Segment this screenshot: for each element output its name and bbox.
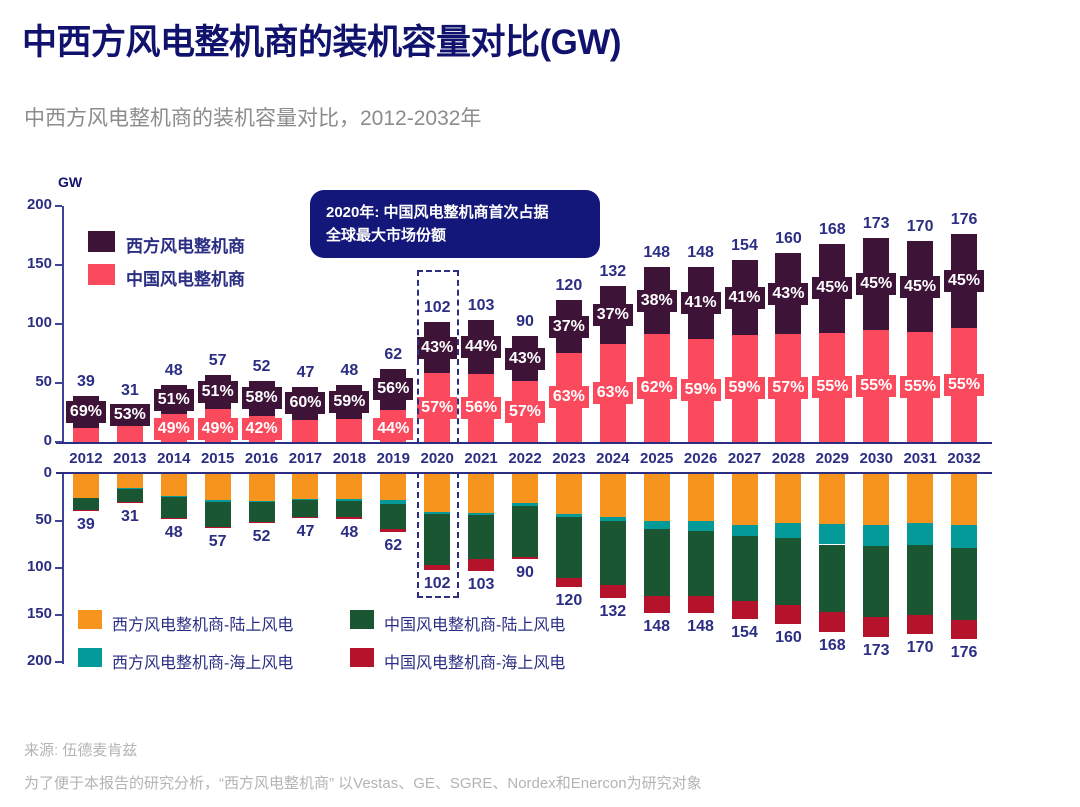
y-axis-unit-label: GW: [58, 174, 82, 190]
bar-percent-label-west: 44%: [461, 336, 501, 358]
x-axis-year-label: 2030: [852, 450, 900, 467]
bar-total-label: 90: [501, 564, 549, 582]
bar-percent-label-west: 60%: [285, 392, 325, 414]
legend-label-2: 中国风电整机商: [126, 265, 245, 290]
bar-segment-china-onshore: [161, 497, 187, 519]
legend-swatch-bottom-4: [350, 648, 374, 667]
bar-segment-west-onshore: [161, 474, 187, 496]
bar-percent-label-west: 41%: [725, 287, 765, 309]
bar-segment-china-offshore: [380, 529, 406, 533]
x-axis-year-label: 2028: [764, 450, 812, 467]
bar-segment-china-onshore: [819, 545, 845, 613]
bar-segment-china-onshore: [468, 515, 494, 558]
bar-segment-china-offshore: [688, 596, 714, 613]
bar-segment-china: [117, 425, 143, 442]
bar-segment-west-onshore: [468, 474, 494, 513]
bar-segment-west-onshore: [292, 474, 318, 499]
bottom-chart-y-tick-mark: [55, 614, 62, 616]
bar-percent-label-west: 53%: [110, 404, 150, 426]
bottom-chart-y-tick-mark: [55, 661, 62, 663]
bar-total-label: 90: [501, 313, 549, 331]
bar-segment-west-onshore: [73, 474, 99, 498]
bar-percent-label-china: 55%: [812, 376, 852, 398]
bar-segment-west-onshore: [512, 474, 538, 503]
bar-percent-label-china: 63%: [593, 382, 633, 404]
bar-total-label: 57: [194, 533, 242, 551]
bar-total-label: 39: [62, 373, 110, 391]
bottom-chart-y-tick-label: 0: [18, 464, 52, 481]
x-axis-year-label: 2032: [940, 450, 988, 467]
bar-segment-china-offshore: [732, 601, 758, 619]
bar-segment-china-offshore: [863, 617, 889, 637]
bar-segment-china-onshore: [863, 546, 889, 617]
callout-line-2: 全球最大市场份额: [326, 224, 584, 247]
x-axis-year-label: 2029: [808, 450, 856, 467]
bar-total-label: 47: [281, 523, 329, 541]
bar-percent-label-west: 45%: [856, 273, 896, 295]
bar-segment-china-offshore: [819, 612, 845, 632]
bottom-chart-y-tick-label: 200: [18, 652, 52, 669]
bar-percent-label-west: 37%: [593, 304, 633, 326]
bar-segment-china-onshore: [775, 538, 801, 605]
callout-box: 2020年: 中国风电整机商首次占据 全球最大市场份额: [310, 190, 600, 258]
bar-segment-china-offshore: [468, 559, 494, 571]
bar-total-label: 103: [457, 297, 505, 315]
bar-total-label: 168: [808, 221, 856, 239]
bar-segment-west-offshore: [732, 525, 758, 536]
callout-line-1: 2020年: 中国风电整机商首次占据: [326, 201, 584, 224]
bar-percent-label-china: 56%: [461, 397, 501, 419]
x-axis-year-label: 2023: [545, 450, 593, 467]
bar-percent-label-china: 57%: [768, 377, 808, 399]
x-axis-year-label: 2013: [106, 450, 154, 467]
bar-segment-west-onshore: [380, 474, 406, 500]
legend-label-bottom-4: 中国风电整机商-海上风电: [384, 649, 565, 673]
x-axis-year-label: 2016: [238, 450, 286, 467]
bar-percent-label-west: 41%: [681, 292, 721, 314]
bar-percent-label-west: 43%: [505, 348, 545, 370]
legend-swatch-2: [88, 264, 115, 285]
bar-total-label: 154: [721, 624, 769, 642]
bar-segment-west-offshore: [951, 525, 977, 549]
top-chart-y-tick-mark: [55, 382, 62, 384]
bar-total-label: 154: [721, 237, 769, 255]
bar-segment-china-offshore: [775, 605, 801, 625]
legend-label-bottom-2: 中国风电整机商-陆上风电: [384, 611, 565, 635]
bar-segment-west-onshore: [600, 474, 626, 517]
x-axis-year-label: 2027: [721, 450, 769, 467]
bar-segment-china-onshore: [205, 502, 231, 526]
bar-segment-west-offshore: [819, 524, 845, 545]
bar-segment-west-onshore: [907, 474, 933, 523]
bar-total-label: 176: [940, 211, 988, 229]
bar-segment-west-onshore: [775, 474, 801, 523]
bar-segment-china-onshore: [380, 504, 406, 528]
highlight-box-top: [417, 270, 459, 444]
bar-percent-label-west: 37%: [549, 316, 589, 338]
bar-segment-west-onshore: [205, 474, 231, 500]
bar-segment-china-onshore: [688, 531, 714, 596]
bar-segment-west-offshore: [644, 521, 670, 529]
bar-segment-china-offshore: [644, 596, 670, 613]
bar-total-label: 170: [896, 639, 944, 657]
bar-segment-china-onshore: [951, 548, 977, 619]
bar-total-label: 52: [238, 358, 286, 376]
bar-percent-label-west: 51%: [154, 389, 194, 411]
bar-segment-west-onshore: [863, 474, 889, 525]
bar-total-label: 120: [545, 592, 593, 610]
bar-total-label: 148: [633, 244, 681, 262]
bar-total-label: 39: [62, 516, 110, 534]
bar-total-label: 52: [238, 528, 286, 546]
bar-segment-west-onshore: [117, 474, 143, 488]
top-chart-y-tick-label: 150: [18, 255, 52, 272]
bar-segment-west-offshore: [863, 525, 889, 547]
bar-total-label: 48: [325, 362, 373, 380]
bar-segment-china-onshore: [732, 536, 758, 601]
bar-percent-label-west: 38%: [637, 290, 677, 312]
bottom-chart-y-tick-label: 100: [18, 558, 52, 575]
legend-label-bottom-3: 西方风电整机商-海上风电: [112, 649, 293, 673]
legend-swatch-bottom-3: [78, 648, 102, 667]
bar-percent-label-china: 44%: [373, 418, 413, 440]
bar-percent-label-china: 62%: [637, 377, 677, 399]
bottom-chart-y-tick-label: 150: [18, 605, 52, 622]
bar-segment-west-onshore: [951, 474, 977, 525]
bar-segment-west-onshore: [688, 474, 714, 521]
chart-canvas: GW0501001502003969%3153%4851%49%5751%49%…: [0, 0, 1080, 807]
bar-total-label: 31: [106, 508, 154, 526]
bar-segment-west-onshore: [732, 474, 758, 525]
bar-percent-label-china: 42%: [242, 418, 282, 440]
bar-percent-label-west: 69%: [66, 401, 106, 423]
legend-label-bottom-1: 西方风电整机商-陆上风电: [112, 611, 293, 635]
bar-total-label: 57: [194, 352, 242, 370]
bar-total-label: 132: [589, 603, 637, 621]
bar-segment-china-offshore: [161, 518, 187, 519]
top-chart-y-tick-mark: [55, 264, 62, 266]
bar-percent-label-west: 45%: [900, 276, 940, 298]
x-axis-year-label: 2014: [150, 450, 198, 467]
bottom-chart-y-tick-mark: [55, 520, 62, 522]
bar-segment-west-onshore: [556, 474, 582, 514]
bar-segment-china-offshore: [117, 502, 143, 503]
bar-segment-china-offshore: [600, 585, 626, 598]
bar-percent-label-china: 49%: [198, 418, 238, 440]
bar-total-label: 168: [808, 637, 856, 655]
bar-segment-west-offshore: [688, 521, 714, 531]
bar-percent-label-west: 43%: [768, 283, 808, 305]
bar-segment-china: [336, 419, 362, 442]
x-axis-year-label: 2021: [457, 450, 505, 467]
highlight-box-bottom: [417, 472, 459, 598]
bar-total-label: 173: [852, 215, 900, 233]
bar-total-label: 103: [457, 576, 505, 594]
x-axis-year-label: 2025: [633, 450, 681, 467]
x-axis-year-label: 2019: [369, 450, 417, 467]
bar-total-label: 148: [633, 618, 681, 636]
footer-note: 为了便于本报告的研究分析，“西方风电整机商” 以Vestas、GE、SGRE、N…: [24, 772, 702, 793]
bar-segment-china-offshore: [205, 527, 231, 528]
bar-segment-china-onshore: [512, 506, 538, 557]
bottom-chart-y-axis: [62, 474, 64, 664]
bar-total-label: 62: [369, 537, 417, 555]
legend-label-1: 西方风电整机商: [126, 232, 245, 257]
bar-segment-china-onshore: [336, 501, 362, 517]
bar-segment-china-onshore: [73, 498, 99, 509]
bar-segment-china-offshore: [907, 615, 933, 634]
bar-segment-china-offshore: [73, 510, 99, 511]
bar-segment-west-onshore: [336, 474, 362, 499]
bar-segment-west-offshore: [907, 523, 933, 546]
bar-total-label: 132: [589, 263, 637, 281]
bar-total-label: 170: [896, 218, 944, 236]
bar-segment-china-onshore: [249, 502, 275, 522]
bar-segment-china-onshore: [556, 517, 582, 578]
bar-total-label: 148: [677, 244, 725, 262]
bar-segment-china-onshore: [907, 545, 933, 615]
top-chart-y-tick-label: 0: [18, 432, 52, 449]
x-axis-year-label: 2015: [194, 450, 242, 467]
x-axis-year-label: 2031: [896, 450, 944, 467]
bar-segment-west-onshore: [819, 474, 845, 524]
bar-total-label: 48: [325, 524, 373, 542]
bar-segment-china-offshore: [951, 620, 977, 640]
bar-segment-west-onshore: [644, 474, 670, 521]
bar-segment-west-offshore: [775, 523, 801, 538]
top-chart-y-tick-label: 200: [18, 196, 52, 213]
bar-percent-label-west: 45%: [944, 270, 984, 292]
bar-segment-china: [73, 428, 99, 442]
bar-percent-label-china: 63%: [549, 386, 589, 408]
bar-segment-china-offshore: [336, 517, 362, 519]
bar-segment-china-onshore: [117, 489, 143, 502]
top-chart-y-tick-label: 50: [18, 373, 52, 390]
bar-segment-china-offshore: [292, 517, 318, 518]
bar-total-label: 31: [106, 382, 154, 400]
bar-percent-label-china: 55%: [900, 376, 940, 398]
x-axis-year-label: 2020: [413, 450, 461, 467]
bar-segment-china-onshore: [292, 500, 318, 517]
top-chart-y-tick-mark: [55, 205, 62, 207]
bar-total-label: 48: [150, 524, 198, 542]
legend-swatch-1: [88, 231, 115, 252]
bar-total-label: 160: [764, 629, 812, 647]
x-axis-year-label: 2022: [501, 450, 549, 467]
bar-segment-west-onshore: [249, 474, 275, 501]
bar-percent-label-west: 56%: [373, 378, 413, 400]
bar-total-label: 176: [940, 644, 988, 662]
x-axis-year-label: 2026: [677, 450, 725, 467]
bar-total-label: 48: [150, 362, 198, 380]
bottom-chart-y-tick-label: 50: [18, 511, 52, 528]
x-axis-year-label: 2012: [62, 450, 110, 467]
bar-segment-china-onshore: [600, 521, 626, 585]
bar-total-label: 47: [281, 364, 329, 382]
x-axis-year-label: 2017: [281, 450, 329, 467]
bar-percent-label-west: 59%: [329, 391, 369, 413]
bar-segment-china-offshore: [556, 578, 582, 586]
bar-total-label: 148: [677, 618, 725, 636]
legend-swatch-bottom-1: [78, 610, 102, 629]
top-chart-y-axis: [62, 206, 64, 444]
bar-percent-label-china: 55%: [856, 375, 896, 397]
bar-total-label: 173: [852, 642, 900, 660]
bar-segment-china-offshore: [512, 557, 538, 559]
top-chart-x-axis: [56, 442, 992, 444]
bar-total-label: 160: [764, 230, 812, 248]
bar-total-label: 120: [545, 277, 593, 295]
top-chart-y-tick-mark: [55, 441, 62, 443]
bar-percent-label-china: 49%: [154, 418, 194, 440]
bar-total-label: 62: [369, 346, 417, 364]
top-chart-y-tick-label: 100: [18, 314, 52, 331]
bottom-chart-y-tick-mark: [55, 567, 62, 569]
bar-segment-china-onshore: [644, 529, 670, 596]
bar-percent-label-china: 59%: [725, 377, 765, 399]
x-axis-year-label: 2018: [325, 450, 373, 467]
top-chart-y-tick-mark: [55, 323, 62, 325]
bar-percent-label-china: 59%: [681, 379, 721, 401]
bar-percent-label-china: 57%: [505, 401, 545, 423]
bar-percent-label-west: 51%: [198, 381, 238, 403]
legend-swatch-bottom-2: [350, 610, 374, 629]
bar-percent-label-china: 55%: [944, 374, 984, 396]
bar-segment-china: [292, 420, 318, 442]
bar-percent-label-west: 45%: [812, 277, 852, 299]
bar-segment-china-offshore: [249, 522, 275, 523]
footer-source: 来源: 伍德麦肯兹: [24, 739, 137, 760]
bar-percent-label-west: 58%: [242, 387, 282, 409]
x-axis-year-label: 2024: [589, 450, 637, 467]
